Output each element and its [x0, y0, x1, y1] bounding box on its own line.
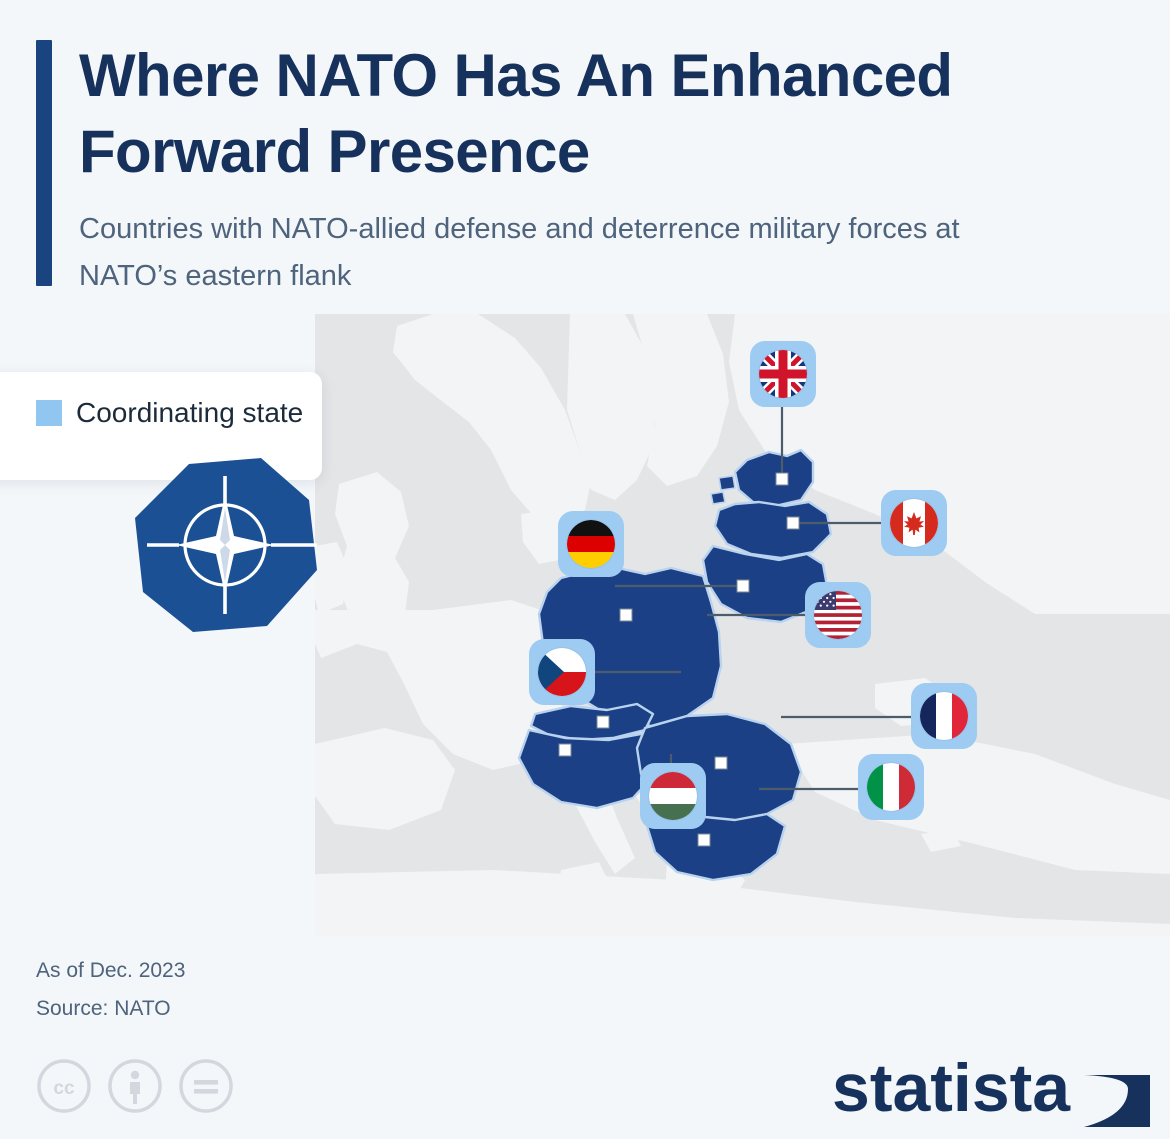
- marker-hungary: [559, 744, 571, 756]
- cc-icon[interactable]: cc: [36, 1058, 92, 1114]
- flag-italy-icon: [867, 763, 915, 811]
- marker-bulgaria: [698, 834, 710, 846]
- flag-canada-icon: [890, 499, 938, 547]
- flag-badge-italy[interactable]: [858, 754, 924, 820]
- legend-item-coordinating-state: Coordinating state: [36, 394, 306, 432]
- statista-wordmark: statista: [832, 1050, 1071, 1126]
- legend-item-label: Coordinating state: [76, 394, 303, 432]
- page-subtitle: Countries with NATO-allied defense and d…: [79, 206, 1039, 300]
- source-label: Source: NATO: [36, 994, 171, 1024]
- flag-badge-france[interactable]: [911, 683, 977, 749]
- marker-poland: [620, 609, 632, 621]
- flag-germany-icon: [567, 520, 615, 568]
- estonia-island-small: [711, 492, 725, 504]
- marker-romania: [715, 757, 727, 769]
- title-accent-bar: [36, 40, 52, 286]
- flag-badge-hungary[interactable]: [640, 763, 706, 829]
- as-of-date: As of Dec. 2023: [36, 956, 185, 986]
- page-title-line-1: Where NATO Has An Enhanced: [79, 38, 1139, 114]
- statista-logo[interactable]: statista: [828, 1045, 1158, 1131]
- nd-icon[interactable]: [178, 1058, 234, 1114]
- map-panel: [315, 314, 1170, 936]
- page-title: Where NATO Has An Enhanced Forward Prese…: [79, 38, 1139, 190]
- flag-uk-icon: [759, 350, 807, 398]
- nato-compass-emblem: [131, 456, 319, 634]
- page-title-line-2: Forward Presence: [79, 114, 1139, 190]
- flag-france-icon: [920, 692, 968, 740]
- svg-text:cc: cc: [53, 1078, 75, 1099]
- flag-badge-czech-republic[interactable]: [529, 639, 595, 705]
- flag-badge-united-states[interactable]: [805, 582, 871, 648]
- statista-mark: [1084, 1075, 1150, 1127]
- europe-map: [315, 314, 1170, 936]
- flag-badge-canada[interactable]: [881, 490, 947, 556]
- marker-estonia: [776, 473, 788, 485]
- flag-badge-germany[interactable]: [558, 511, 624, 577]
- flag-czech-icon: [538, 648, 586, 696]
- marker-lithuania: [737, 580, 749, 592]
- flag-badge-united-kingdom[interactable]: [750, 341, 816, 407]
- flag-usa-icon: [814, 591, 862, 639]
- estonia-islands: [719, 476, 735, 490]
- marker-latvia: [787, 517, 799, 529]
- legend-color-swatch: [36, 400, 62, 426]
- license-icons: cc: [36, 1058, 234, 1114]
- marker-slovakia: [597, 716, 609, 728]
- flag-hungary-icon: [649, 772, 697, 820]
- by-icon[interactable]: [107, 1058, 163, 1114]
